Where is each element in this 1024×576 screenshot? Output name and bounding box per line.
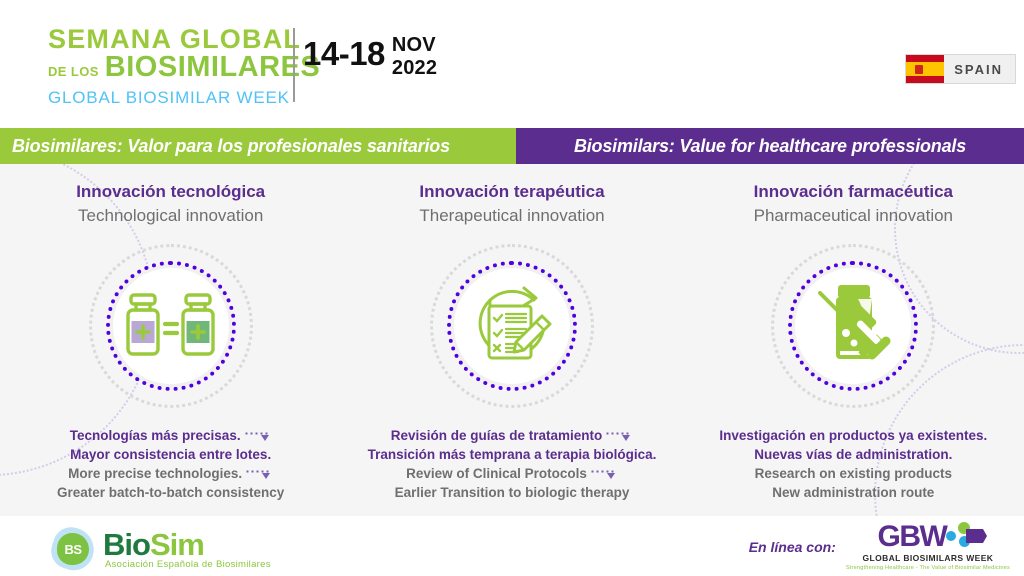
bullet-es-2: Nuevas vías de administration.: [754, 445, 952, 464]
logo-line-global-biosimilar-week: GLOBAL BIOSIMILAR WEEK: [48, 87, 294, 109]
icon-circle-3: [768, 241, 938, 411]
bullet-en-2: Greater batch-to-batch consistency: [57, 483, 284, 502]
bullet-en-1-text: More precise technologies.: [68, 466, 242, 481]
bullets-1: Tecnologías más precisas. Mayor consiste…: [0, 426, 341, 502]
bullet-en-1-text: Review of Clinical Protocols: [406, 466, 587, 481]
date-day-range: 14-18: [303, 34, 385, 74]
banner-spanish: Biosimilares: Valor para los profesional…: [0, 128, 516, 164]
column-title-en: Pharmaceutical innovation: [754, 205, 953, 227]
gbw-molecule-icon: [944, 522, 978, 552]
bullet-es-1: Tecnologías más precisas.: [70, 426, 272, 445]
column-title-es: Innovación farmacéutica: [754, 181, 953, 203]
bullet-es-1: Revisión de guías de tratamiento: [391, 426, 634, 445]
bullet-es-2: Mayor consistencia entre lotes.: [70, 445, 271, 464]
logo-line-semana-global: SEMANA GLOBAL: [48, 26, 294, 53]
column-title-es: Innovación tecnológica: [76, 181, 265, 203]
columns-container: Innovación tecnológica Technological inn…: [0, 164, 1024, 516]
logo-de-los: DE LOS: [48, 57, 99, 86]
section-banner: Biosimilares: Valor para los profesional…: [0, 128, 1024, 164]
logo-biosimilares-word: BIOSIMILARES: [105, 53, 320, 82]
gbw-tagline: Strengthening Healthcare - The Value of …: [846, 565, 1010, 571]
biosim-logo[interactable]: BS Bio Sim Asociación Española de Biosim…: [50, 526, 271, 572]
semana-global-logo: SEMANA GLOBAL DE LOS BIOSIMILARES GLOBAL…: [48, 26, 294, 106]
biosim-subtitle: Asociación Española de Biosimilares: [105, 559, 271, 570]
bullet-en-2: Earlier Transition to biologic therapy: [395, 483, 630, 502]
dotted-arrow-icon: [590, 469, 618, 479]
gbw-flag-icon: [966, 529, 983, 543]
biosim-bio: Bio: [103, 529, 150, 561]
icon-circle-2: [427, 241, 597, 411]
event-date: 14-18 NOV 2022: [303, 34, 437, 78]
header-divider: [293, 28, 295, 102]
column-title-es: Innovación terapéutica: [419, 181, 604, 203]
banner-english: Biosimilars: Value for healthcare profes…: [516, 128, 1024, 164]
date-year: 2022: [392, 58, 437, 78]
bullets-2: Revisión de guías de tratamiento Transic…: [341, 426, 682, 502]
biosim-wordmark: Bio Sim Asociación Española de Biosimila…: [103, 529, 271, 570]
biosim-sim: Sim: [150, 529, 204, 561]
logo-line-biosimilares: DE LOS BIOSIMILARES: [48, 53, 294, 86]
gbw-prefix-label: En línea con:: [749, 539, 836, 555]
banner-english-text: Biosimilars: Value for healthcare profes…: [574, 136, 966, 157]
biosim-name: Bio Sim: [103, 529, 271, 561]
bullet-en-1: Review of Clinical Protocols: [406, 464, 618, 483]
column-pharmaceutical-innovation: Innovación farmacéutica Pharmaceutical i…: [683, 164, 1024, 516]
clipboard-checklist-pencil-icon: [464, 278, 560, 374]
spain-flag-icon: [906, 55, 944, 83]
icon-circle-1: [86, 241, 256, 411]
bullet-es-1-text: Tecnologías más precisas.: [70, 428, 241, 443]
bullet-en-2: New administration route: [772, 483, 934, 502]
syringe-vial-icon: [810, 281, 896, 371]
dotted-arrow-icon: [605, 431, 633, 441]
gbw-week-label: GLOBAL BIOSIMILARS WEEK: [862, 553, 993, 563]
gbw-logo-top: GBW: [878, 522, 979, 552]
two-vials-equals-icon: [125, 293, 217, 359]
date-month: NOV: [392, 35, 437, 55]
column-technological-innovation: Innovación tecnológica Technological inn…: [0, 164, 341, 516]
bullet-en-1: Research on existing products: [755, 464, 952, 483]
dotted-arrow-icon: [244, 431, 272, 441]
column-title-en: Technological innovation: [78, 205, 263, 227]
bullet-es-2: Transición más temprana a terapia biológ…: [368, 445, 657, 464]
country-badge: SPAIN: [905, 54, 1016, 84]
gbw-letters: GBW: [878, 522, 947, 552]
page-header: SEMANA GLOBAL DE LOS BIOSIMILARES GLOBAL…: [0, 0, 1024, 124]
country-label: SPAIN: [944, 62, 1015, 77]
bullet-es-1: Investigación en productos ya existentes…: [719, 426, 987, 445]
column-therapeutical-innovation: Innovación terapéutica Therapeutical inn…: [341, 164, 682, 516]
bullets-3: Investigación en productos ya existentes…: [683, 426, 1024, 502]
main-content: Innovación tecnológica Technological inn…: [0, 164, 1024, 516]
banner-spanish-text: Biosimilares: Valor para los profesional…: [12, 136, 450, 157]
gbw-partner-block: En línea con: GBW GLOBAL BIOSIMILARS WEE…: [749, 522, 1010, 571]
column-title-en: Therapeutical innovation: [419, 205, 604, 227]
bullet-en-1: More precise technologies.: [68, 464, 273, 483]
bs-initials: BS: [64, 542, 81, 557]
dotted-arrow-icon: [245, 469, 273, 479]
bullet-es-1-text: Revisión de guías de tratamiento: [391, 428, 603, 443]
country-name-text: SPAIN: [954, 62, 1003, 77]
gbw-logo[interactable]: GBW GLOBAL BIOSIMILARS WEEK Strengthenin…: [846, 522, 1010, 571]
biosim-bs-mark-icon: BS: [50, 526, 96, 572]
date-month-year: NOV 2022: [392, 35, 437, 78]
